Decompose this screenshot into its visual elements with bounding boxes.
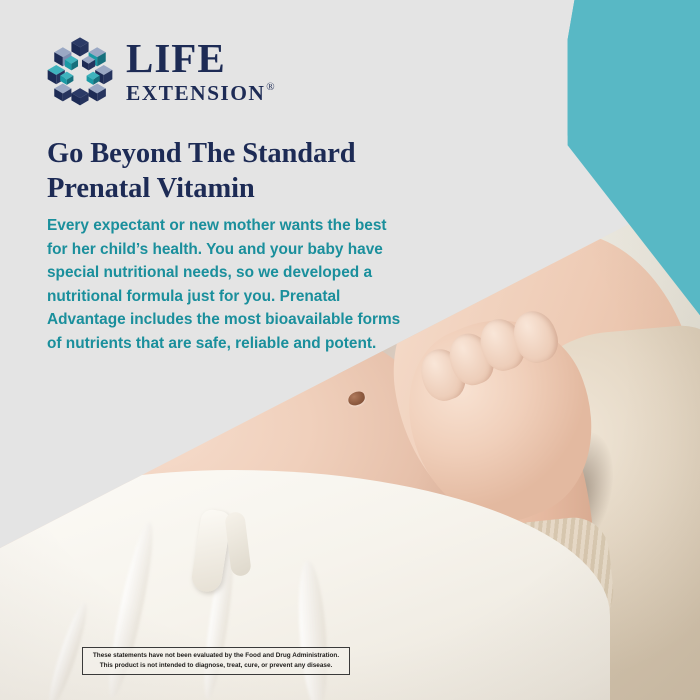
page-title: Go Beyond The Standard Prenatal Vitamin [47, 136, 447, 207]
body-paragraph: Every expectant or new mother wants the … [47, 214, 407, 355]
brand-wordmark: LIFE EXTENSION ® [126, 38, 275, 105]
registered-trademark-symbol: ® [266, 82, 274, 93]
brand-line-extension: EXTENSION [126, 83, 265, 105]
fda-disclaimer-line-2: This product is not intended to diagnose… [87, 661, 345, 671]
fda-disclaimer-line-1: These statements have not been evaluated… [87, 651, 345, 661]
fda-disclaimer: These statements have not been evaluated… [82, 647, 350, 675]
product-lifestyle-banner: LIFE EXTENSION ® Go Beyond The Standard … [0, 0, 700, 700]
brand-line-life: LIFE [126, 38, 275, 79]
hexagon-cube-logo-icon [47, 36, 113, 106]
brand-logo: LIFE EXTENSION ® [47, 36, 275, 106]
